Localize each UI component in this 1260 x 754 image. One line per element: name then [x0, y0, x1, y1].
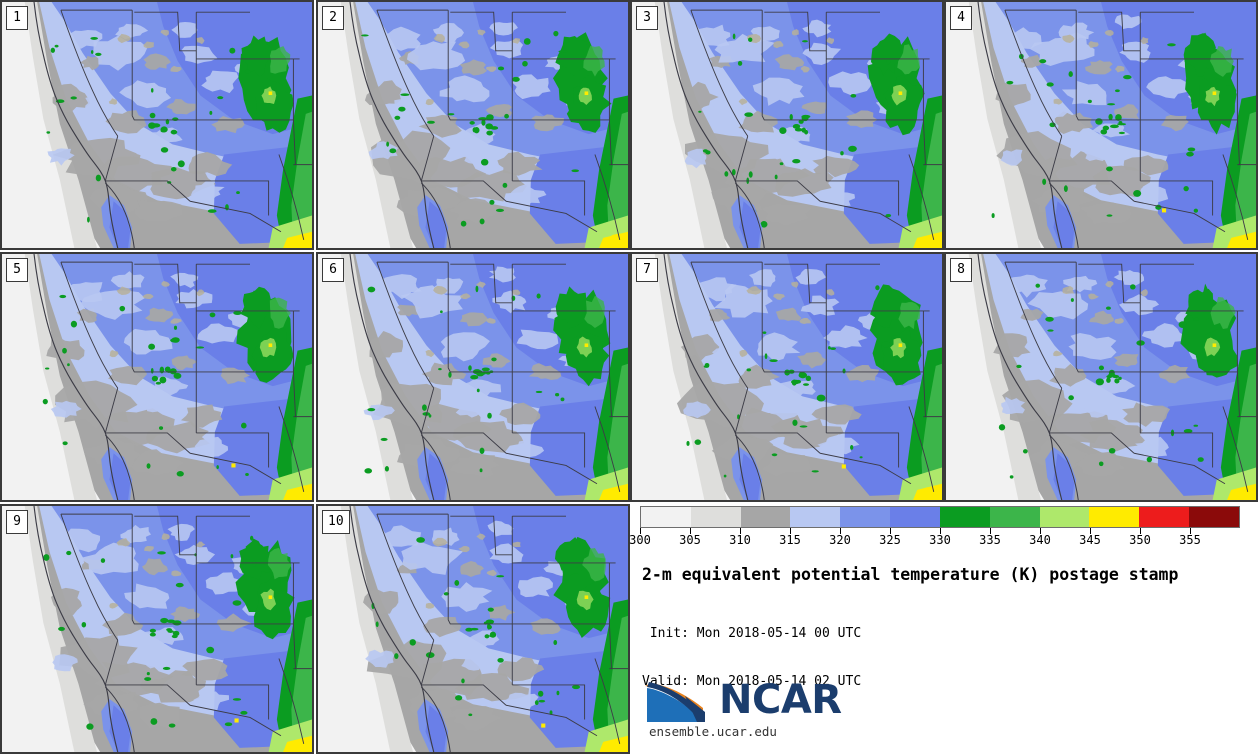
ncar-branding: NCAR ensemble.ucar.edu — [645, 678, 895, 742]
ensemble-member-panel[interactable]: 9 — [0, 504, 314, 754]
ensemble-member-panel[interactable]: 8 — [944, 252, 1258, 502]
ensemble-member-panel[interactable]: 1 — [0, 0, 314, 250]
colorbar-swatch — [1040, 507, 1090, 527]
colorbar-tick-label: 355 — [1179, 533, 1201, 547]
member-number-label: 10 — [322, 510, 350, 534]
ensemble-member-panel[interactable]: 2 — [316, 0, 630, 250]
init-time-line: Init: Mon 2018-05-14 00 UTC — [642, 626, 861, 642]
member-map — [946, 2, 1256, 248]
colorbar-tick-label: 330 — [929, 533, 951, 547]
colorbar-tick-label: 315 — [779, 533, 801, 547]
colorbar-tick-label: 300 — [629, 533, 651, 547]
member-map — [632, 254, 942, 500]
ncar-url: ensemble.ucar.edu — [649, 724, 777, 739]
colorbar-swatch — [940, 507, 990, 527]
colorbar-swatch — [840, 507, 890, 527]
ncar-logo-icon — [645, 678, 717, 724]
member-number-label: 5 — [6, 258, 28, 282]
colorbar-swatch — [641, 507, 691, 527]
colorbar-swatch — [790, 507, 840, 527]
member-map — [2, 506, 312, 752]
colorbar-tick-label: 325 — [879, 533, 901, 547]
colorbar-swatch — [990, 507, 1040, 527]
ensemble-member-panel[interactable]: 5 — [0, 252, 314, 502]
member-number-label: 3 — [636, 6, 658, 30]
colorbar-swatch — [741, 507, 791, 527]
member-number-label: 7 — [636, 258, 658, 282]
ensemble-member-panel[interactable]: 6 — [316, 252, 630, 502]
colorbar-swatch — [691, 507, 741, 527]
member-map — [318, 2, 628, 248]
colorbar-swatch — [890, 507, 940, 527]
colorbar-tick-label: 305 — [679, 533, 701, 547]
ensemble-member-panel[interactable]: 4 — [944, 0, 1258, 250]
member-map — [318, 506, 628, 752]
colorbar-swatch — [1089, 507, 1139, 527]
member-number-label: 1 — [6, 6, 28, 30]
colorbar-tick-label: 335 — [979, 533, 1001, 547]
member-map — [318, 254, 628, 500]
member-number-label: 4 — [950, 6, 972, 30]
ensemble-member-panel[interactable]: 7 — [630, 252, 944, 502]
member-number-label: 2 — [322, 6, 344, 30]
ensemble-member-panel[interactable]: 3 — [630, 0, 944, 250]
member-number-label: 8 — [950, 258, 972, 282]
colorbar-tick-label: 310 — [729, 533, 751, 547]
member-map — [632, 2, 942, 248]
colorbar-tick-label: 350 — [1129, 533, 1151, 547]
member-map — [2, 2, 312, 248]
member-number-label: 6 — [322, 258, 344, 282]
member-number-label: 9 — [6, 510, 28, 534]
colorbar-tick-labels: 300305310315320325330335340345350355 — [640, 533, 1240, 549]
ncar-wordmark: NCAR — [719, 677, 842, 723]
member-map — [946, 254, 1256, 500]
colorbar-group: 300305310315320325330335340345350355 — [640, 506, 1240, 550]
colorbar-tick-label: 345 — [1079, 533, 1101, 547]
colorbar-swatch — [1139, 507, 1189, 527]
colorbar-swatch — [1189, 507, 1239, 527]
colorbar-tick-label: 320 — [829, 533, 851, 547]
colorbar — [640, 506, 1240, 528]
colorbar-tick-label: 340 — [1029, 533, 1051, 547]
ensemble-member-panel[interactable]: 10 — [316, 504, 630, 754]
member-map — [2, 254, 312, 500]
figure-title: 2-m equivalent potential temperature (K)… — [642, 565, 1178, 584]
figure-root: 12345678910 3003053103153203253303353403… — [0, 0, 1260, 746]
